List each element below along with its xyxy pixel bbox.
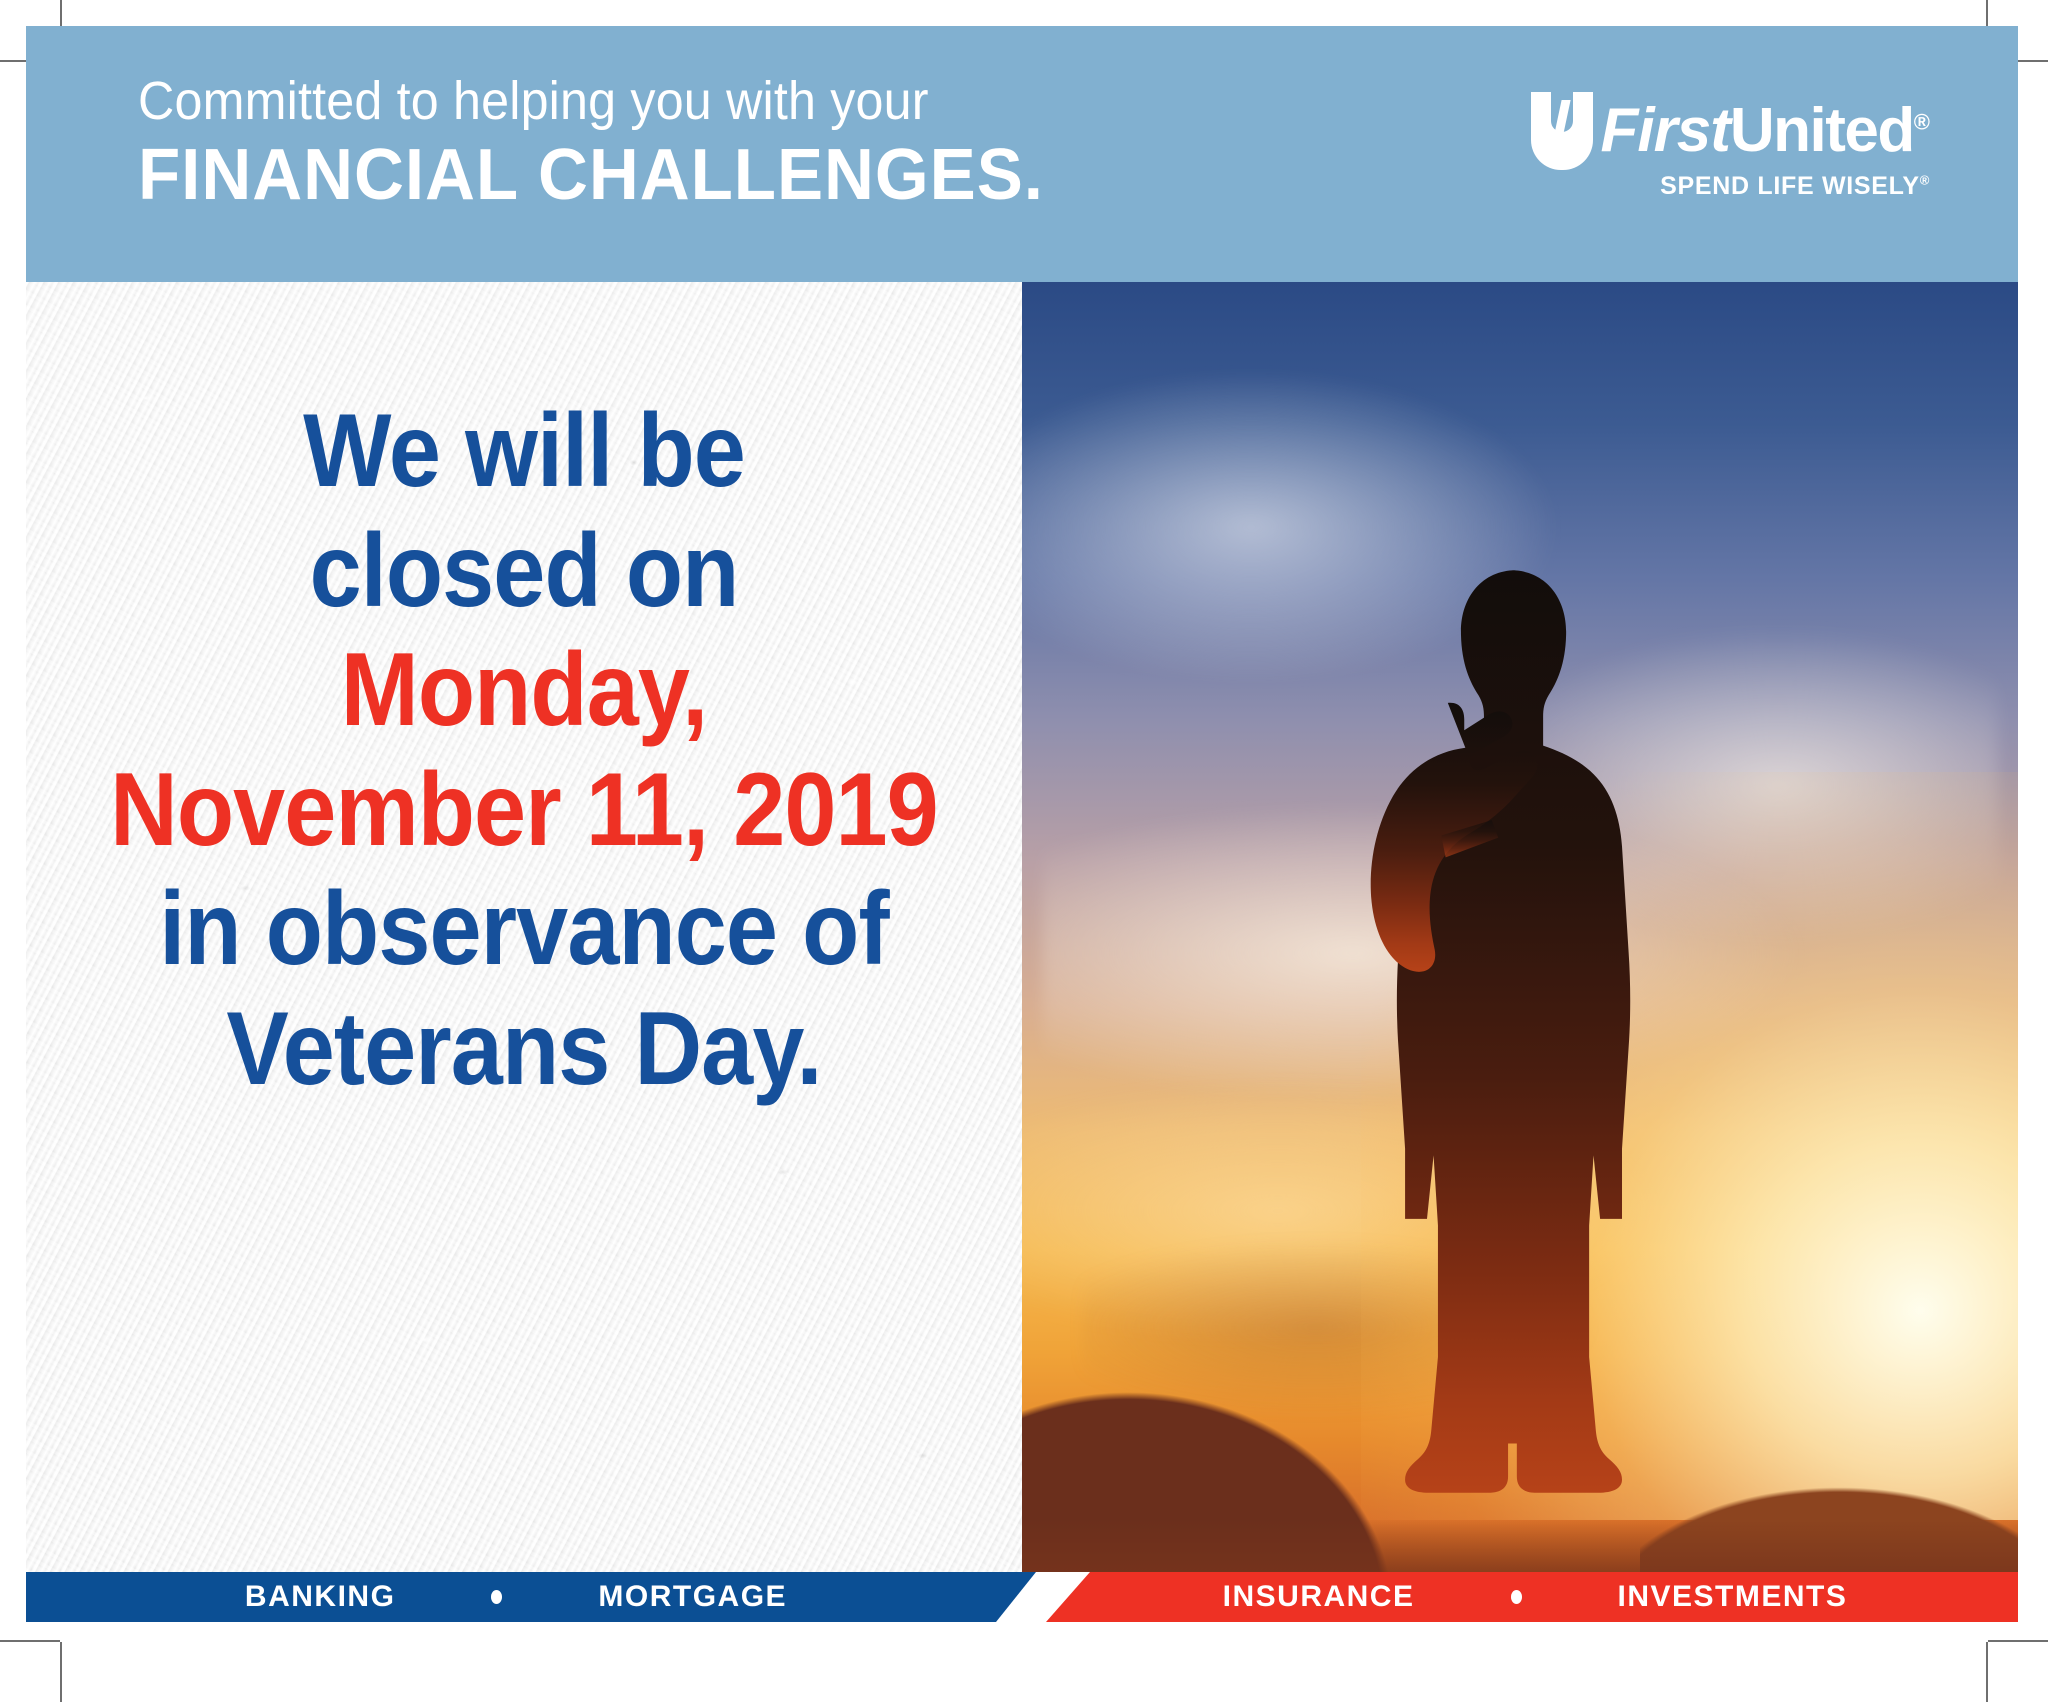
crop-mark-bottom-left-h bbox=[0, 1640, 60, 1642]
header-tagline-small: Committed to helping you with your bbox=[138, 74, 1016, 128]
footer-item-investments[interactable]: INVESTMENTS bbox=[1618, 1580, 1848, 1614]
body-split: We will be closed on Monday, November 11… bbox=[26, 282, 2018, 1572]
logo-lockup: FirstUnited® bbox=[1531, 92, 1930, 170]
logo-tagline-registered-mark: ® bbox=[1920, 173, 1930, 188]
saluting-soldier-silhouette-icon bbox=[1301, 408, 1739, 1543]
headline-line-5: in observance of bbox=[76, 870, 972, 990]
logo-tagline: SPEND LIFE WISELY® bbox=[1660, 172, 1930, 201]
headline-line-1: We will be bbox=[76, 392, 972, 512]
first-united-logo[interactable]: FirstUnited® SPEND LIFE WISELY® bbox=[1531, 92, 1930, 201]
crop-mark-bottom-right-v bbox=[1986, 1642, 1988, 1702]
crop-mark-bottom-left-v bbox=[60, 1642, 62, 1702]
logo-word-united: United bbox=[1730, 96, 1914, 165]
headline-line-3: Monday, bbox=[76, 631, 972, 751]
logo-u-mark-icon bbox=[1531, 92, 1593, 170]
crop-mark-bottom-right-h bbox=[1988, 1640, 2048, 1642]
header-band: Committed to helping you with your FINAN… bbox=[26, 26, 2018, 282]
insurance-investments-bar: INSURANCE INVESTMENTS bbox=[1046, 1572, 2018, 1622]
footer-item-banking[interactable]: BANKING bbox=[245, 1580, 396, 1614]
header-tagline-headline: FINANCIAL CHALLENGES. bbox=[138, 138, 1044, 214]
logo-registered-mark: ® bbox=[1914, 109, 1930, 134]
banking-mortgage-bar: BANKING MORTGAGE bbox=[26, 1572, 1036, 1622]
headline-line-4: November 11, 2019 bbox=[76, 751, 972, 871]
headline-line-6: Veterans Day. bbox=[76, 990, 972, 1110]
footer-item-insurance[interactable]: INSURANCE bbox=[1223, 1580, 1415, 1614]
services-footer: BANKING MORTGAGE INSURANCE INVESTMENTS bbox=[26, 1572, 2018, 1636]
footer-separator-dot-left bbox=[491, 1590, 502, 1604]
sunset-soldier-photo bbox=[1022, 282, 2018, 1572]
logo-wordmark: FirstUnited® bbox=[1601, 102, 1930, 161]
logo-word-first: First bbox=[1601, 96, 1730, 165]
message-panel: We will be closed on Monday, November 11… bbox=[26, 282, 1022, 1572]
closure-headline: We will be closed on Monday, November 11… bbox=[26, 392, 1022, 1110]
headline-line-2: closed on bbox=[76, 512, 972, 632]
logo-tagline-text: SPEND LIFE WISELY bbox=[1660, 172, 1920, 200]
footer-item-mortgage[interactable]: MORTGAGE bbox=[598, 1580, 787, 1614]
footer-separator-dot-right bbox=[1511, 1590, 1522, 1604]
header-text-block: Committed to helping you with your FINAN… bbox=[138, 74, 1082, 214]
poster-canvas: Committed to helping you with your FINAN… bbox=[26, 26, 2018, 1636]
